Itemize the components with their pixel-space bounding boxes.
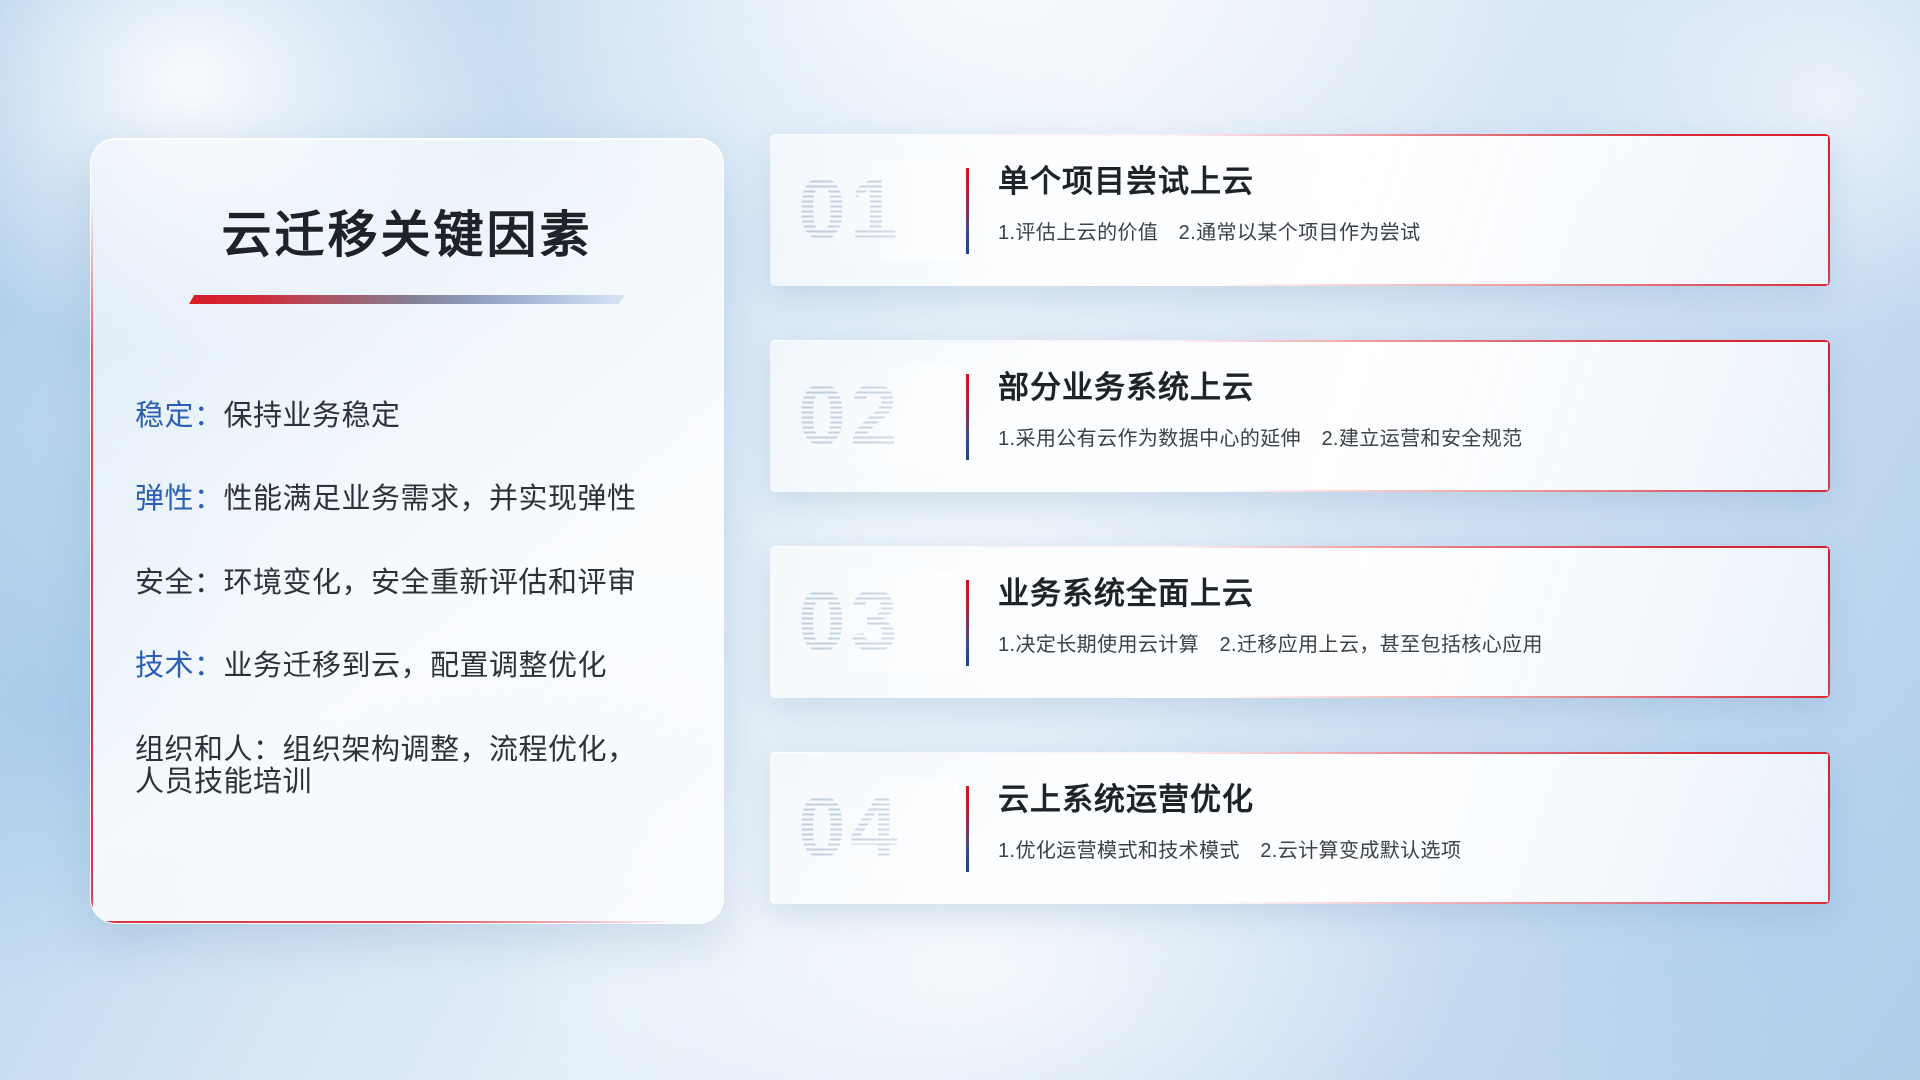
factor-list: 稳定：保持业务稳定弹性：性能满足业务需求，并实现弹性安全：环境变化，安全重新评估… xyxy=(91,400,723,799)
card-step-number: 03 xyxy=(798,573,902,672)
factor-text: 性能满足业务需求，并实现弹性 xyxy=(224,483,637,515)
stage-card[interactable]: 03业务系统全面上云1.决定长期使用云计算 2.迁移应用上云，甚至包括核心应用 xyxy=(770,546,1830,698)
factor-label: 弹性： xyxy=(135,483,224,515)
stage-card-list: 01单个项目尝试上云1.评估上云的价值 2.通常以某个项目作为尝试02部分业务系… xyxy=(770,134,1830,904)
card-top-accent-rule xyxy=(770,752,1830,754)
factor-text: 环境变化，安全重新评估和评审 xyxy=(224,567,637,599)
stage-card[interactable]: 01单个项目尝试上云1.评估上云的价值 2.通常以某个项目作为尝试 xyxy=(770,134,1830,286)
card-body: 单个项目尝试上云1.评估上云的价值 2.通常以某个项目作为尝试 xyxy=(998,164,1802,245)
card-bottom-accent-rule xyxy=(1215,284,1830,286)
panel-title: 云迁移关键因素 xyxy=(91,195,723,267)
factor-label: 安全： xyxy=(135,567,224,599)
card-top-accent-rule xyxy=(770,134,1830,136)
card-top-accent-rule xyxy=(770,340,1830,342)
card-step-number: 01 xyxy=(798,161,902,260)
factor-item: 组织和人：组织架构调整，流程优化， 人员技能培训 xyxy=(135,734,723,799)
card-step-number: 04 xyxy=(798,779,902,878)
card-bottom-accent-rule xyxy=(1215,490,1830,492)
card-right-accent-rule xyxy=(1828,752,1830,904)
card-right-accent-rule xyxy=(1828,340,1830,492)
stage-card[interactable]: 04云上系统运营优化1.优化运营模式和技术模式 2.云计算变成默认选项 xyxy=(770,752,1830,904)
factor-label: 组织和人： xyxy=(135,734,283,766)
factor-label: 稳定： xyxy=(135,400,224,432)
card-subtitle: 1.采用公有云作为数据中心的延伸 2.建立运营和安全规范 xyxy=(998,422,1802,451)
factor-item: 弹性：性能满足业务需求，并实现弹性 xyxy=(135,483,723,515)
factor-item: 稳定：保持业务稳定 xyxy=(135,400,723,432)
factor-text: 保持业务稳定 xyxy=(224,400,401,432)
card-title: 云上系统运营优化 xyxy=(998,782,1802,819)
card-top-accent-rule xyxy=(770,546,1830,548)
factor-label: 技术： xyxy=(135,650,224,682)
card-body: 云上系统运营优化1.优化运营模式和技术模式 2.云计算变成默认选项 xyxy=(998,782,1802,863)
card-bottom-accent-rule xyxy=(1215,696,1830,698)
slide-canvas: 云迁移关键因素 稳定：保持业务稳定弹性：性能满足业务需求，并实现弹性安全：环境变… xyxy=(0,0,1920,1080)
card-title: 单个项目尝试上云 xyxy=(998,164,1802,201)
card-body: 业务系统全面上云1.决定长期使用云计算 2.迁移应用上云，甚至包括核心应用 xyxy=(998,576,1802,657)
stage-card[interactable]: 02部分业务系统上云1.采用公有云作为数据中心的延伸 2.建立运营和安全规范 xyxy=(770,340,1830,492)
card-subtitle: 1.评估上云的价值 2.通常以某个项目作为尝试 xyxy=(998,216,1802,245)
card-divider-rule xyxy=(966,168,969,254)
card-step-number: 02 xyxy=(798,367,902,466)
card-body: 部分业务系统上云1.采用公有云作为数据中心的延伸 2.建立运营和安全规范 xyxy=(998,370,1802,451)
card-subtitle: 1.优化运营模式和技术模式 2.云计算变成默认选项 xyxy=(998,834,1802,863)
card-divider-rule xyxy=(966,580,969,666)
card-divider-rule xyxy=(966,786,969,872)
card-right-accent-rule xyxy=(1828,546,1830,698)
factor-item: 技术：业务迁移到云，配置调整优化 xyxy=(135,650,723,682)
key-factors-panel: 云迁移关键因素 稳定：保持业务稳定弹性：性能满足业务需求，并实现弹性安全：环境变… xyxy=(90,138,724,924)
factor-item: 安全：环境变化，安全重新评估和评审 xyxy=(135,567,723,599)
card-title: 业务系统全面上云 xyxy=(998,576,1802,613)
card-title: 部分业务系统上云 xyxy=(998,370,1802,407)
card-right-accent-rule xyxy=(1828,134,1830,286)
card-bottom-accent-rule xyxy=(1215,902,1830,904)
factor-text: 业务迁移到云，配置调整优化 xyxy=(224,650,608,682)
card-divider-rule xyxy=(966,374,969,460)
card-subtitle: 1.决定长期使用云计算 2.迁移应用上云，甚至包括核心应用 xyxy=(998,628,1802,657)
title-underline-rule xyxy=(189,295,625,304)
